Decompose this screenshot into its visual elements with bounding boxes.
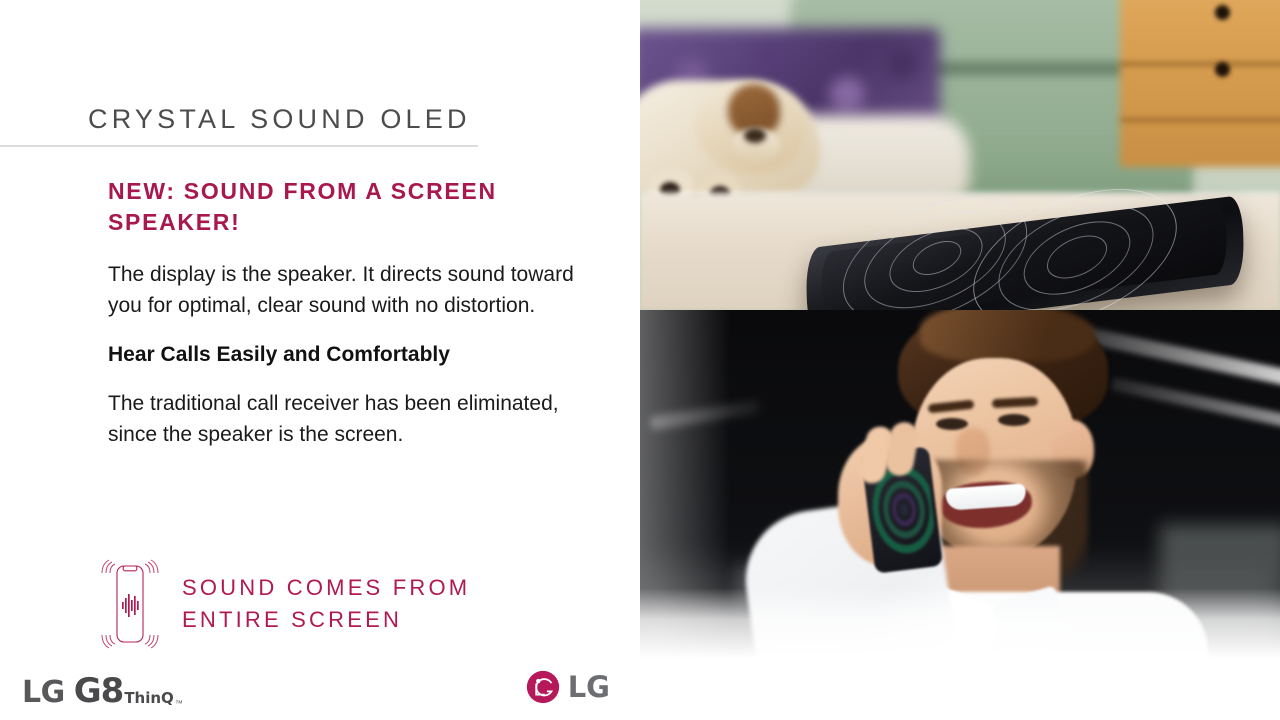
product-logo-g8-thinq: LG G8 ThinQ ™ (22, 674, 183, 708)
paragraph-1: The display is the speaker. It directs s… (108, 259, 613, 321)
callout-sound-from-screen: SOUND COMES FROM ENTIRE SCREEN (100, 558, 470, 650)
photo-phone-on-table (640, 0, 1280, 310)
right-image-column (640, 0, 1280, 720)
lg-face-mark-icon (526, 670, 560, 704)
lg-wordmark: LG (568, 673, 610, 702)
page-title: CRYSTAL SOUND OLED (88, 104, 471, 135)
callout-label: SOUND COMES FROM ENTIRE SCREEN (182, 572, 470, 636)
left-content-column: CRYSTAL SOUND OLED NEW: SOUND FROM A SCR… (0, 0, 640, 720)
logo-model: G8 (74, 674, 124, 708)
logo-lg-word: LG (22, 678, 65, 708)
logo-thinq: ThinQ (124, 691, 173, 706)
body-text-block: NEW: SOUND FROM A SCREEN SPEAKER! The di… (108, 176, 628, 468)
lede-heading: NEW: SOUND FROM A SCREEN SPEAKER! (108, 176, 613, 238)
brand-logo-lg: LG (526, 670, 610, 704)
logo-trademark: ™ (175, 699, 183, 708)
slide-root: CRYSTAL SOUND OLED NEW: SOUND FROM A SCR… (0, 0, 1280, 720)
photo-man-on-call (640, 310, 1280, 658)
subheading-hear-calls: Hear Calls Easily and Comfortably (108, 339, 613, 370)
paragraph-2: The traditional call receiver has been e… (108, 388, 613, 450)
title-divider (0, 145, 478, 147)
phone-sound-waves-icon (100, 558, 160, 650)
